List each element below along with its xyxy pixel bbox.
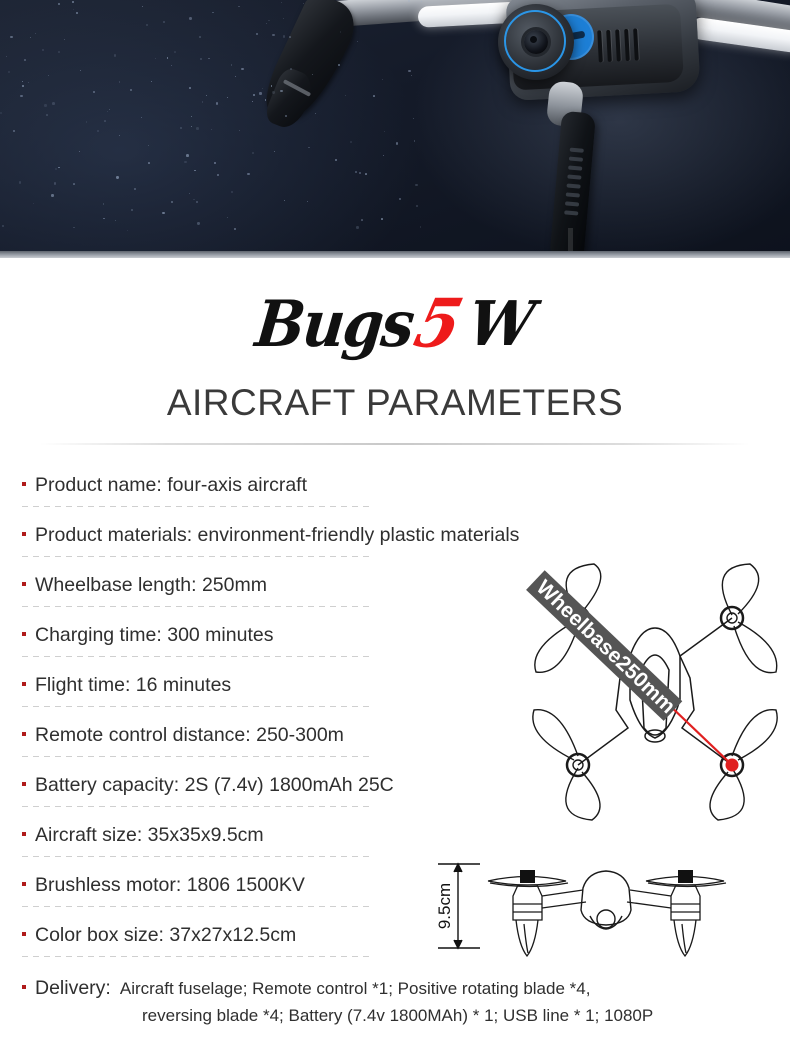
hero-speck — [13, 130, 15, 132]
hero-speck — [186, 154, 189, 157]
list-item: Product materials: environment-friendly … — [0, 512, 790, 562]
hero-speck — [356, 226, 358, 228]
spec-text: Color box size: 37x27x12.5cm — [35, 924, 296, 947]
hero-speck — [42, 49, 44, 51]
row-divider — [22, 706, 372, 707]
spec-text: Wheelbase length: 250mm — [35, 574, 267, 597]
bullet-icon — [22, 532, 26, 536]
bullet-icon — [22, 582, 26, 586]
hero-speck — [22, 85, 24, 87]
row-divider — [22, 506, 372, 507]
hero-speck — [2, 225, 4, 227]
hero-speck — [115, 220, 116, 221]
hero-speck — [93, 91, 95, 93]
hero-speck — [280, 90, 282, 92]
hero-speck — [171, 65, 172, 66]
hero-speck — [20, 95, 22, 97]
bullet-icon — [22, 482, 26, 486]
spec-text: Battery capacity: 2S (7.4v) 1800mAh 25C — [35, 774, 394, 797]
hero-speck — [73, 183, 75, 185]
hero-speck — [274, 151, 275, 152]
delivery-line-2: reversing blade *4; Battery (7.4v 1800MA… — [22, 1002, 790, 1029]
hero-speck — [134, 188, 136, 190]
bullet-icon — [22, 985, 26, 989]
hero-speck — [396, 142, 398, 144]
bullet-icon — [22, 632, 26, 636]
hero-speck — [44, 104, 46, 106]
bullet-icon — [22, 682, 26, 686]
side-view-diagram: 9.5cm — [420, 852, 790, 972]
hero-speck — [312, 74, 313, 75]
hero-speck — [189, 17, 192, 20]
hero-speck — [64, 39, 65, 40]
spec-text: Aircraft size: 35x35x9.5cm — [35, 824, 264, 847]
drone-vents — [597, 25, 657, 66]
row-divider — [22, 606, 372, 607]
hero-speck — [259, 92, 261, 94]
hero-speck — [119, 81, 120, 82]
row-divider — [22, 806, 372, 807]
hero-speck — [253, 94, 254, 95]
logo-text-bugs: Bugs — [253, 292, 416, 356]
height-label: 9.5cm — [435, 883, 454, 929]
hero-speck — [19, 181, 22, 184]
hero-speck — [252, 152, 254, 154]
hero-speck — [107, 111, 108, 112]
bullet-icon — [22, 932, 26, 936]
hero-speck — [119, 135, 120, 136]
bullet-icon — [22, 882, 26, 886]
hero-speck — [196, 201, 198, 203]
hero-speck — [241, 68, 243, 70]
logo-text-w: W — [464, 293, 538, 354]
delivery-block: Delivery: Aircraft fuselage; Remote cont… — [22, 975, 790, 1029]
hero-speck — [51, 194, 53, 196]
row-divider — [22, 756, 372, 757]
hero-speck — [227, 217, 228, 218]
hero-speck — [52, 102, 55, 105]
wheelbase-marker-end — [726, 759, 739, 772]
side-view-diagram-svg: 9.5cm — [420, 852, 790, 972]
hero-speck — [58, 3, 60, 5]
hero-speck — [355, 171, 357, 173]
hero-speck — [272, 91, 274, 93]
delivery-line-1: Aircraft fuselage; Remote control *1; Po… — [120, 975, 591, 1002]
row-divider — [22, 656, 372, 657]
hero-speck — [55, 168, 57, 170]
spec-text: Product materials: environment-friendly … — [35, 524, 519, 547]
hero-speck — [46, 114, 48, 116]
spec-text: Flight time: 16 minutes — [35, 674, 231, 697]
hero-speck — [127, 230, 128, 231]
bullet-icon — [22, 832, 26, 836]
camera-lens — [524, 30, 548, 54]
hero-speck — [174, 51, 176, 53]
wheelbase-diagram-svg: Wheelbase250mm — [500, 560, 790, 822]
logo-text-five: 5 — [408, 291, 468, 358]
hero-speck — [416, 205, 417, 206]
hero-speck — [408, 0, 409, 1]
hero-speck — [73, 9, 74, 10]
row-divider — [22, 906, 372, 907]
hero-speck — [211, 129, 212, 130]
hero-speck — [408, 70, 410, 72]
row-divider — [22, 856, 372, 857]
hero-speck — [109, 109, 110, 110]
hero-speck — [114, 54, 116, 56]
bullet-icon — [22, 782, 26, 786]
motor-cap-right — [678, 870, 693, 883]
hero-bottom-strip — [0, 251, 790, 258]
hero-speck — [373, 95, 375, 97]
hero-speck — [365, 173, 367, 175]
wheelbase-label-band: Wheelbase250mm — [526, 570, 682, 721]
wheelbase-label: Wheelbase250mm — [532, 576, 680, 718]
spec-text: Charging time: 300 minutes — [35, 624, 273, 647]
hero-speck — [196, 127, 199, 130]
heading-divider — [40, 443, 750, 445]
spec-text: Brushless motor: 1806 1500KV — [35, 874, 305, 897]
motor-cap-left — [520, 870, 535, 883]
hero-speck — [238, 6, 239, 7]
hero-speck — [10, 36, 12, 38]
hero-speck — [335, 159, 336, 160]
bullet-icon — [22, 732, 26, 736]
hero-speck — [272, 34, 275, 37]
hero-speck — [399, 198, 401, 200]
hero-speck — [340, 31, 341, 32]
hero-speck — [28, 82, 29, 83]
wheelbase-diagram: Wheelbase250mm — [500, 560, 790, 822]
list-item: Product name: four-axis aircraft — [0, 462, 790, 512]
spec-text: Remote control distance: 250-300m — [35, 724, 344, 747]
hero-speck — [199, 36, 201, 38]
delivery-label: Delivery: — [35, 977, 111, 1000]
hero-speck — [163, 21, 165, 23]
hero-product-photo — [0, 0, 790, 258]
hero-speck — [24, 59, 26, 61]
drone-illustration — [0, 0, 790, 258]
hero-speck — [414, 140, 415, 141]
brand-logo: Bugs 5 W — [0, 288, 790, 360]
hero-speck — [33, 203, 34, 204]
hero-speck — [345, 95, 346, 96]
hero-speck — [80, 70, 81, 71]
hero-speck — [197, 222, 199, 224]
row-divider — [22, 956, 372, 957]
hero-speck — [116, 176, 118, 178]
hero-speck — [189, 87, 191, 89]
hero-speck — [361, 219, 363, 221]
spec-text: Product name: four-axis aircraft — [35, 474, 307, 497]
hero-speck — [0, 112, 2, 114]
row-divider — [22, 556, 372, 557]
landing-leg-notch — [568, 228, 573, 252]
hero-speck — [381, 218, 383, 220]
page-title: AIRCRAFT PARAMETERS — [0, 382, 790, 424]
